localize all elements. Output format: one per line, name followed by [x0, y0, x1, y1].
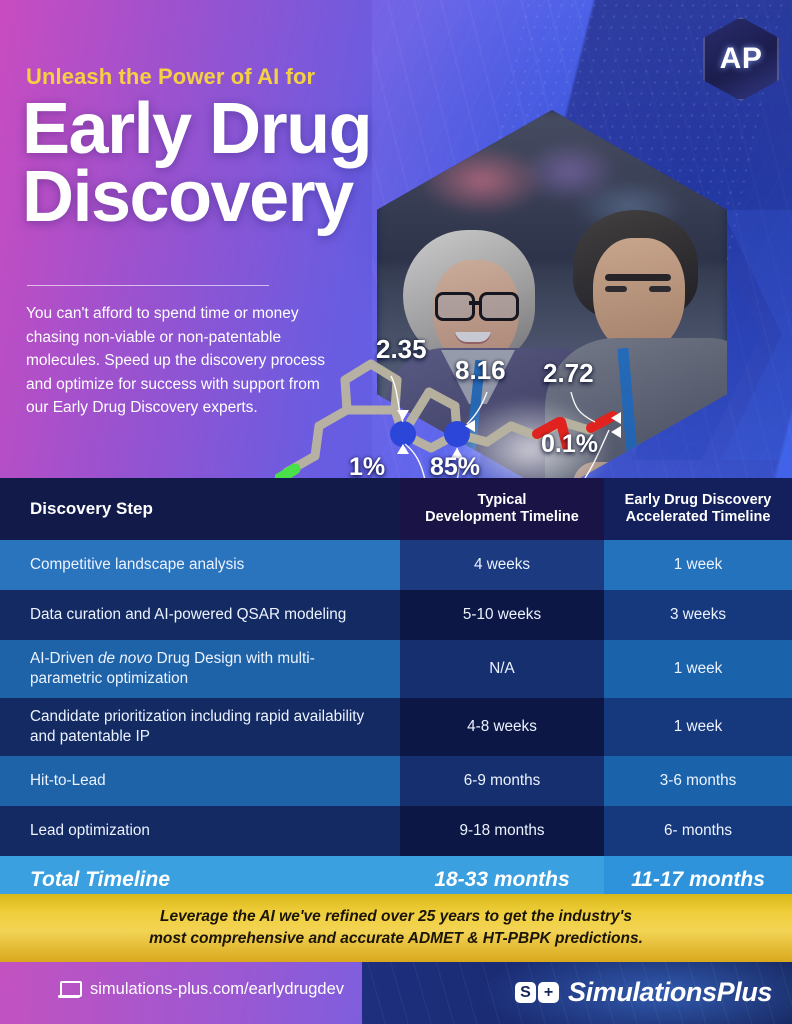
molecule-label-2-35: 2.35 [376, 334, 427, 365]
callout-line-2: most comprehensive and accurate ADMET & … [149, 930, 643, 947]
simulations-plus-logo[interactable]: S + SimulationsPlus [515, 977, 772, 1008]
logo-mark-s: S [515, 982, 536, 1003]
molecule-label-2-72: 2.72 [543, 358, 594, 389]
cell-total-accelerated: 11-17 months [604, 856, 792, 895]
cell-typical: N/A [400, 640, 604, 698]
molecule-label-85-percent: 85% [430, 453, 480, 480]
table-row: Data curation and AI-powered QSAR modeli… [0, 590, 792, 640]
cell-total-label: Total Timeline [0, 868, 400, 892]
cell-step: AI-Driven de novo Drug Design with multi… [0, 640, 400, 698]
cell-accelerated: 3-6 months [604, 756, 792, 806]
callout-line-1: Leverage the AI we've refined over 25 ye… [160, 908, 632, 925]
ap-logo-text: AP [720, 42, 763, 76]
logo-wordmark: SimulationsPlus [568, 977, 772, 1008]
table-row: Hit-to-Lead 6-9 months 3-6 months [0, 756, 792, 806]
table-row: Candidate prioritization including rapid… [0, 698, 792, 756]
table-row: Lead optimization 9-18 months 6- months [0, 806, 792, 856]
footer-url-link[interactable]: simulations-plus.com/earlydrugdev [58, 980, 344, 999]
molecule-label-8-16: 8.16 [455, 355, 506, 386]
molecule-label-1-percent: 1% [349, 453, 385, 480]
cell-accelerated: 1 week [604, 540, 792, 590]
cell-step: Lead optimization [0, 812, 400, 850]
hero-section: AP Unleash the Power of AI for Early Dru… [0, 0, 792, 480]
infographic-page: AP Unleash the Power of AI for Early Dru… [0, 0, 792, 1024]
cell-step: Competitive landscape analysis [0, 546, 400, 584]
column-header-typical-line2: Development Timeline [425, 509, 579, 526]
table-row: AI-Driven de novo Drug Design with multi… [0, 640, 792, 698]
cell-accelerated: 1 week [604, 640, 792, 698]
cell-accelerated: 6- months [604, 806, 792, 856]
cell-typical: 6-9 months [400, 756, 604, 806]
cell-step: Hit-to-Lead [0, 762, 400, 800]
column-header-accelerated-line1: Early Drug Discovery [625, 492, 772, 509]
table-header-row: Discovery Step Typical Development Timel… [0, 478, 792, 540]
footer-bar: simulations-plus.com/earlydrugdev S + Si… [0, 962, 792, 1024]
timeline-comparison-table: Discovery Step Typical Development Timel… [0, 478, 792, 894]
cell-typical: 9-18 months [400, 806, 604, 856]
callout-text: Leverage the AI we've refined over 25 ye… [149, 906, 643, 951]
hero-eyebrow: Unleash the Power of AI for [26, 64, 446, 90]
cell-step: Candidate prioritization including rapid… [0, 698, 400, 756]
table-total-row: Total Timeline 18-33 months 11-17 months [0, 856, 792, 895]
laptop-icon [58, 981, 80, 998]
cell-total-typical: 18-33 months [400, 856, 604, 895]
logo-mark-icon: S + [515, 982, 559, 1003]
cell-step: Data curation and AI-powered QSAR modeli… [0, 596, 400, 634]
cell-accelerated: 3 weeks [604, 590, 792, 640]
cell-typical: 4 weeks [400, 540, 604, 590]
cell-typical: 4-8 weeks [400, 698, 604, 756]
column-header-accelerated-line2: Accelerated Timeline [625, 509, 772, 526]
column-header-accelerated-timeline: Early Drug Discovery Accelerated Timelin… [604, 478, 792, 540]
logo-mark-plus: + [538, 982, 559, 1003]
table-row: Competitive landscape analysis 4 weeks 1… [0, 540, 792, 590]
molecule-label-0-1-percent: 0.1% [541, 430, 598, 459]
cell-step-emphasis: de novo [98, 650, 152, 667]
cell-accelerated: 1 week [604, 698, 792, 756]
cell-typical: 5-10 weeks [400, 590, 604, 640]
column-header-typical-timeline: Typical Development Timeline [400, 478, 604, 540]
column-header-discovery-step: Discovery Step [0, 499, 400, 519]
column-header-typical-line1: Typical [425, 492, 579, 509]
hero-divider [27, 285, 269, 286]
cell-step-pre: AI-Driven [30, 650, 98, 667]
footer-url-text: simulations-plus.com/earlydrugdev [90, 980, 344, 999]
callout-band: Leverage the AI we've refined over 25 ye… [0, 894, 792, 962]
